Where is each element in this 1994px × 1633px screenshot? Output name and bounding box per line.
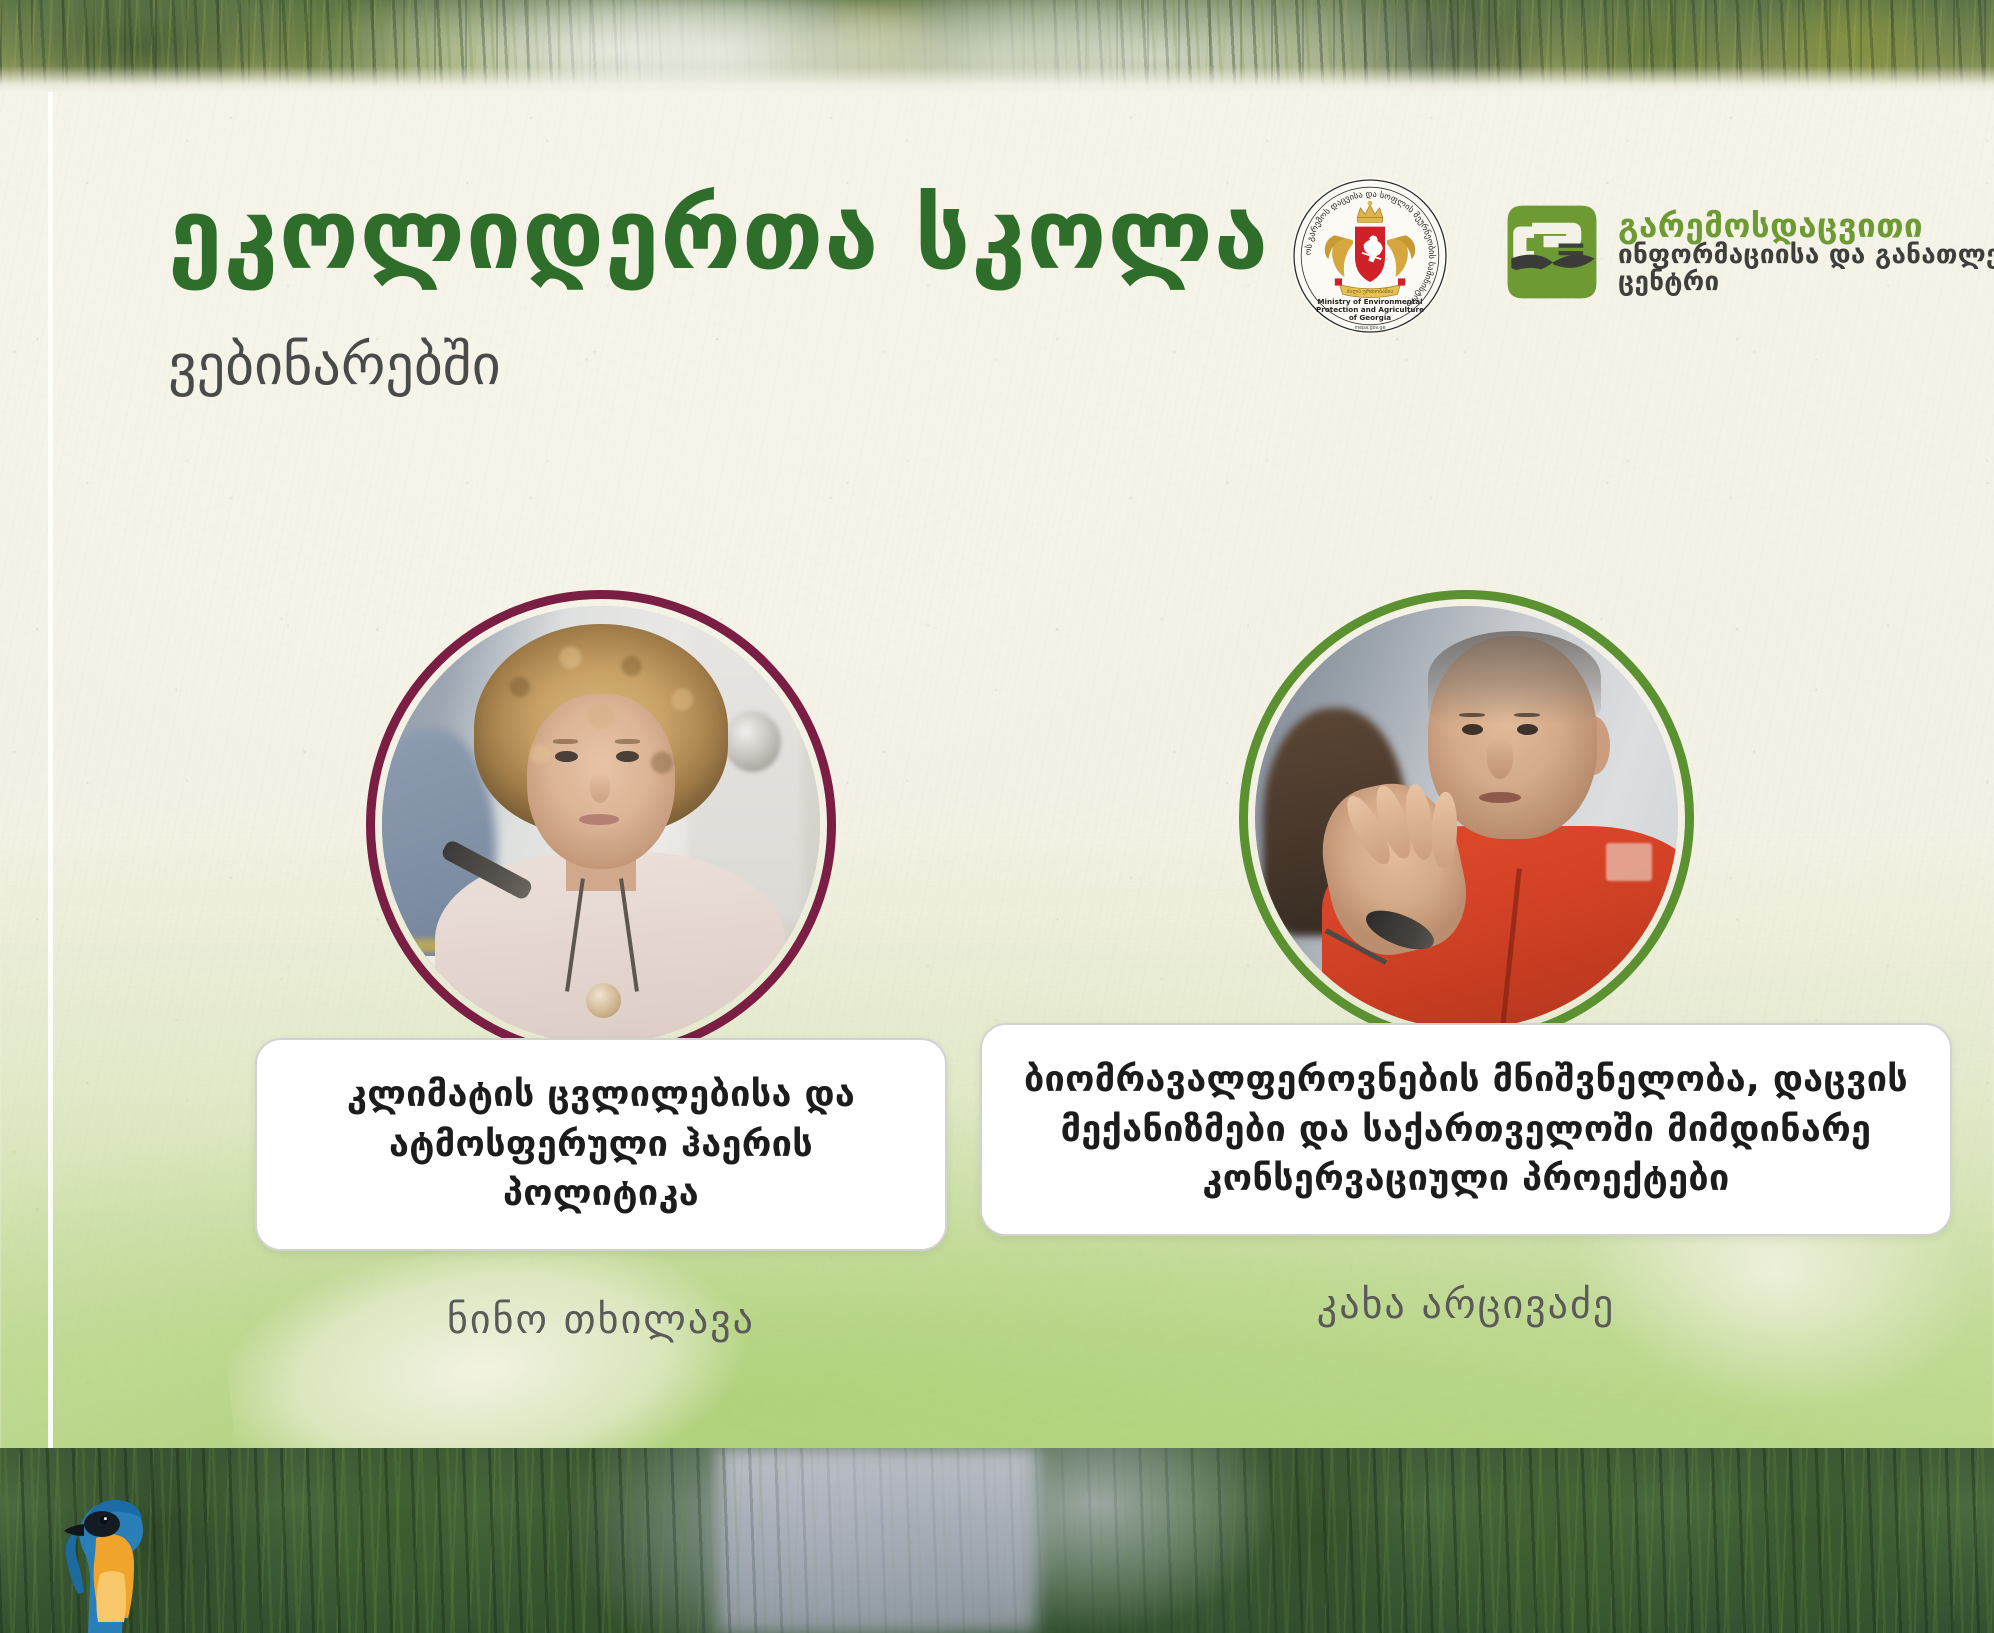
eiec-line-1: გარემოსდაცვითი: [1618, 209, 1994, 243]
top-forest-band: [0, 0, 1994, 92]
page-title: ეკოლიდერთა სკოლა: [168, 186, 1269, 284]
ministry-caption-line3: of Georgia: [1349, 313, 1391, 322]
ministry-emblem-logo: საქართველოს გარემოს დაცვისა და სოფლის მე…: [1290, 176, 1450, 336]
poster-canvas: ეკოლიდერთა სკოლა ვებინარებში საქართველოს…: [0, 0, 1994, 1633]
forest-foliage-strokes-bottom: [0, 1448, 1994, 1633]
eiec-line-2: ინფორმაციისა და განათლების: [1618, 242, 1994, 269]
speaker-card-a: კლიმატის ცვლილებისა და ატმოსფერული ჰაერი…: [186, 590, 1016, 1343]
eiec-book-mark-icon: [1500, 200, 1604, 304]
page-subtitle: ვებინარებში: [168, 338, 501, 394]
top-band-fade: [0, 66, 1994, 92]
speaker-b-portrait-ring: [1239, 590, 1694, 1045]
speaker-a-portrait-wrap: [366, 590, 836, 1060]
ministry-url: mepa.gov.ge: [1354, 326, 1385, 331]
eiec-logo: გარემოსდაცვითი ინფორმაციისა და განათლები…: [1500, 200, 1994, 304]
speaker-a-portrait-ring: [366, 590, 836, 1060]
speaker-b-name: კახა არცივაძე: [1317, 1282, 1615, 1328]
speakers-row: კლიმატის ცვლილებისა და ატმოსფერული ჰაერი…: [100, 590, 1934, 1343]
eiec-logo-text: გარემოსდაცვითი ინფორმაციისა და განათლები…: [1618, 209, 1994, 296]
speaker-a-name: ნინო თხილავა: [447, 1297, 755, 1343]
speaker-b-portrait-wrap: [1239, 590, 1694, 1045]
decorative-frame-line: [48, 92, 53, 1448]
speaker-b-topic: ბიომრავალფეროვნების მნიშვნელობა, დაცვის …: [980, 1023, 1952, 1236]
bottom-forest-band: [0, 1448, 1994, 1633]
svg-text:ძალა ერთობაშია: ძალა ერთობაშია: [1347, 288, 1394, 295]
speaker-card-b: ბიომრავალფეროვნების მნიშვნელობა, დაცვის …: [1016, 590, 1916, 1328]
eiec-line-3: ცენტრი: [1618, 269, 1994, 296]
speaker-a-topic: კლიმატის ცვლილებისა და ატმოსფერული ჰაერი…: [255, 1038, 947, 1251]
blue-orange-bird-icon: [52, 1482, 184, 1633]
